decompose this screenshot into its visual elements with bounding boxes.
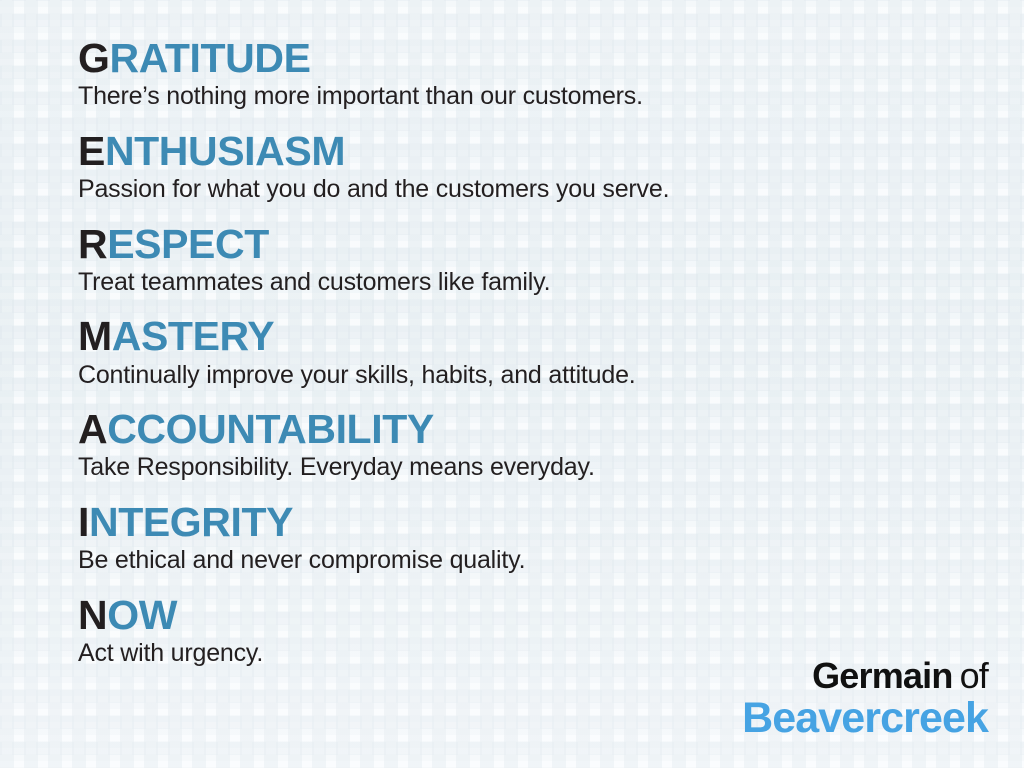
value-block-mastery: MASTERY Continually improve your skills,… bbox=[78, 314, 978, 390]
value-heading-mastery: MASTERY bbox=[78, 314, 978, 358]
values-list: GRATITUDE There’s nothing more important… bbox=[78, 36, 978, 685]
core-values-poster: GRATITUDE There’s nothing more important… bbox=[0, 0, 1024, 768]
logo-brand-name: Germain bbox=[812, 655, 952, 696]
logo-primary-line: Germainof bbox=[742, 658, 988, 694]
value-description-mastery: Continually improve your skills, habits,… bbox=[78, 360, 978, 391]
value-description-integrity: Be ethical and never compromise quality. bbox=[78, 545, 978, 576]
value-description-gratitude: There’s nothing more important than our … bbox=[78, 81, 978, 112]
value-heading-enthusiasm: ENTHUSIASM bbox=[78, 129, 978, 173]
value-heading-respect: RESPECT bbox=[78, 222, 978, 266]
value-block-enthusiasm: ENTHUSIASM Passion for what you do and t… bbox=[78, 129, 978, 205]
value-initial-letter: N bbox=[78, 592, 107, 638]
value-description-enthusiasm: Passion for what you do and the customer… bbox=[78, 174, 978, 205]
dealership-logo: Germainof Beavercreek bbox=[742, 658, 988, 740]
value-description-accountability: Take Responsibility. Everyday means ever… bbox=[78, 452, 978, 483]
value-heading-remainder: OW bbox=[107, 592, 177, 638]
value-heading-remainder: CCOUNTABILITY bbox=[107, 406, 434, 452]
value-block-respect: RESPECT Treat teammates and customers li… bbox=[78, 222, 978, 298]
value-block-integrity: INTEGRITY Be ethical and never compromis… bbox=[78, 500, 978, 576]
value-initial-letter: M bbox=[78, 313, 112, 359]
value-heading-remainder: ESPECT bbox=[107, 221, 269, 267]
value-heading-accountability: ACCOUNTABILITY bbox=[78, 407, 978, 451]
value-heading-integrity: INTEGRITY bbox=[78, 500, 978, 544]
logo-connector-word: of bbox=[960, 655, 988, 696]
value-initial-letter: R bbox=[78, 221, 107, 267]
value-description-respect: Treat teammates and customers like famil… bbox=[78, 267, 978, 298]
logo-location-name: Beavercreek bbox=[742, 697, 988, 740]
value-heading-remainder: RATITUDE bbox=[110, 35, 311, 81]
value-initial-letter: G bbox=[78, 35, 110, 81]
value-initial-letter: A bbox=[78, 406, 107, 452]
value-heading-remainder: NTHUSIASM bbox=[105, 128, 345, 174]
value-block-accountability: ACCOUNTABILITY Take Responsibility. Ever… bbox=[78, 407, 978, 483]
value-initial-letter: I bbox=[78, 499, 89, 545]
value-heading-remainder: NTEGRITY bbox=[89, 499, 293, 545]
value-heading-now: NOW bbox=[78, 593, 978, 637]
value-heading-gratitude: GRATITUDE bbox=[78, 36, 978, 80]
value-block-gratitude: GRATITUDE There’s nothing more important… bbox=[78, 36, 978, 112]
value-heading-remainder: ASTERY bbox=[112, 313, 274, 359]
value-initial-letter: E bbox=[78, 128, 105, 174]
